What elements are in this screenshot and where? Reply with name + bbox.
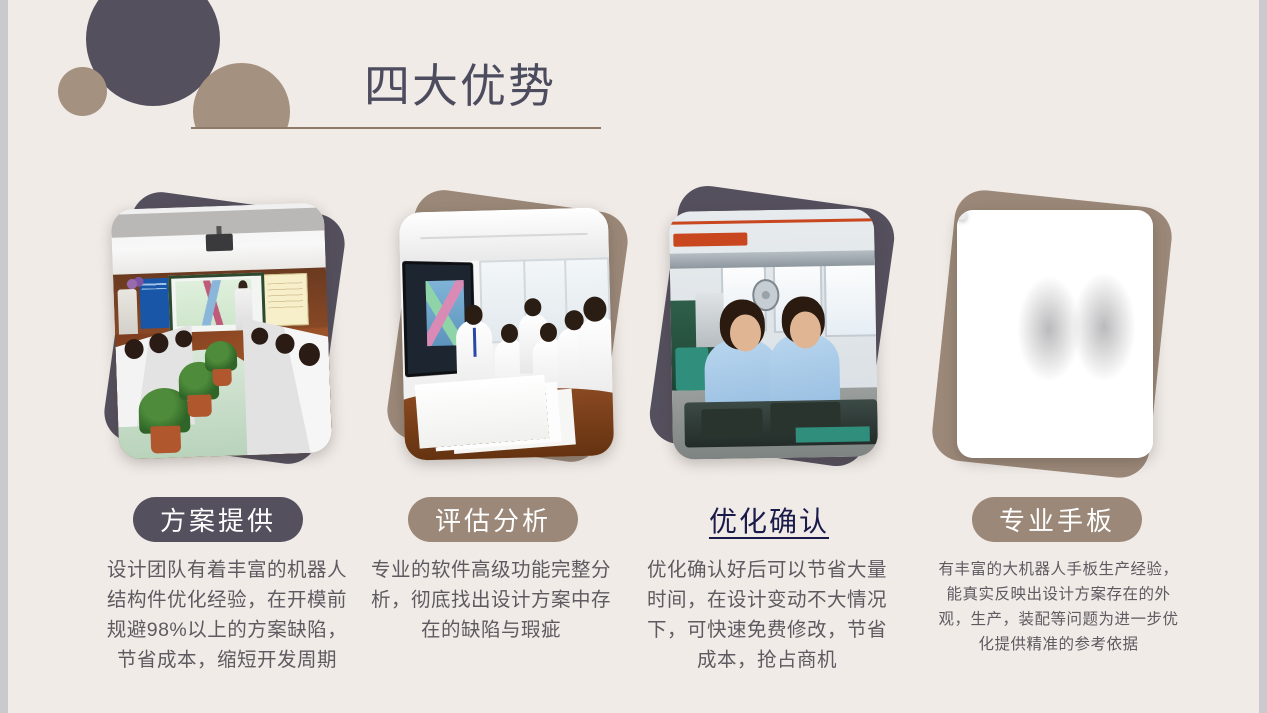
card-1-label[interactable]: 方案提供 <box>133 497 303 542</box>
card-4-label[interactable]: 专业手板 <box>972 497 1142 542</box>
card-1-body: 设计团队有着丰富的机器人结构件优化经验，在开模前规避98%以上的方案缺陷，节省成… <box>103 555 351 675</box>
card-4-photo <box>957 210 1153 458</box>
card-3-body: 优化确认好后可以节省大量时间，在设计变动不大情况下，可快速免费修改，节省成本，抢… <box>641 555 893 675</box>
advantage-card-2: 评估分析 专业的软件高级功能完整分析，彻底找出设计方案中存在的缺陷与瑕疵 <box>378 180 678 710</box>
card-2-label-text: 评估分析 <box>435 501 551 538</box>
advantage-card-3: 优化确认 优化确认好后可以节省大量时间，在设计变动不大情况下，可快速免费修改，节… <box>653 180 953 710</box>
card-3-photo <box>669 208 878 460</box>
advantage-card-4: 专业手板 有丰富的大机器人手板生产经验，能真实反映出设计方案存在的外观，生产，装… <box>923 180 1223 710</box>
card-4-label-text: 专业手板 <box>999 501 1115 538</box>
tan-small-circle-decoration <box>58 67 107 116</box>
advantage-card-1: 方案提供 设计团队有着丰富的机器人结构件优化经验，在开模前规避98%以上的方案缺… <box>103 180 403 710</box>
divider-mask <box>191 129 611 169</box>
card-1-label-text: 方案提供 <box>160 501 276 538</box>
page-title: 四大优势 <box>364 60 556 112</box>
card-1-photo <box>111 202 333 459</box>
card-3-label[interactable]: 优化确认 <box>679 500 859 540</box>
card-2-body: 专业的软件高级功能完整分析，彻底找出设计方案中存在的缺陷与瑕疵 <box>366 555 616 645</box>
card-2-label[interactable]: 评估分析 <box>408 497 578 542</box>
card-4-body: 有丰富的大机器人手板生产经验，能真实反映出设计方案存在的外观，生产，装配等问题为… <box>931 557 1186 657</box>
card-2-photo <box>399 207 614 460</box>
slide-canvas: 四大优势 <box>8 0 1259 713</box>
